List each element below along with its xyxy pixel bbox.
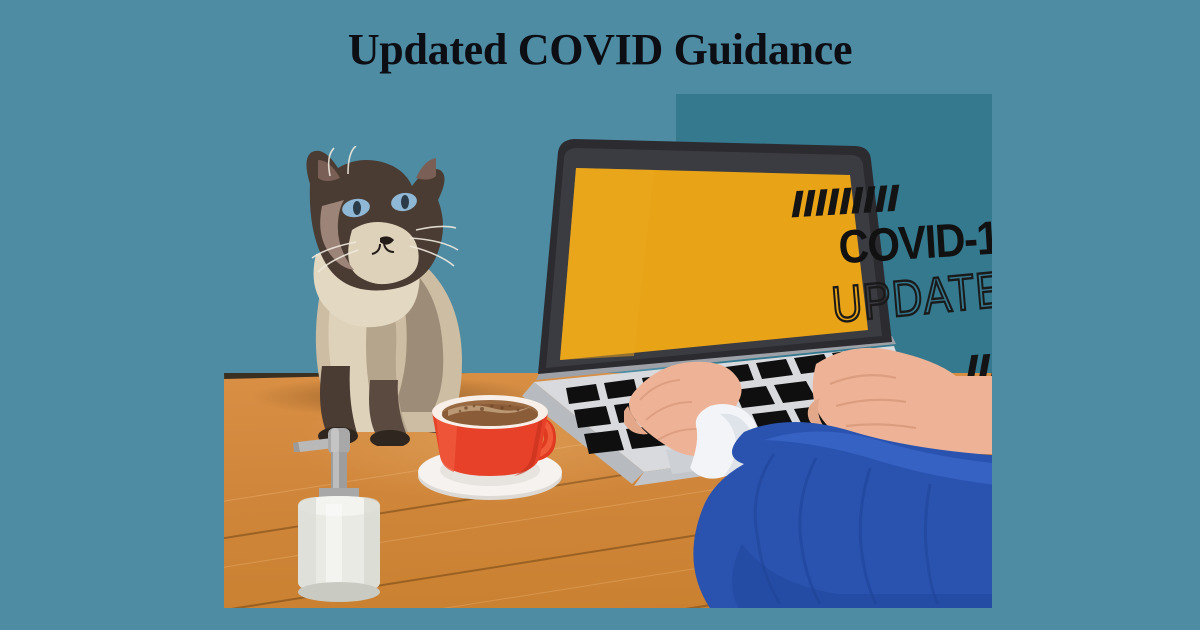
hazard-bar [816, 189, 828, 216]
hand-sanitizer-pump-bottle[interactable] [284, 414, 389, 604]
hazard-bar [876, 185, 888, 212]
hazard-bar [804, 190, 816, 217]
hazard-bar [828, 188, 840, 215]
person-hands-typing [624, 344, 992, 608]
hazard-bar [852, 187, 864, 214]
hazard-bar [840, 188, 852, 215]
coffee-cup-on-saucer[interactable] [414, 384, 574, 504]
hazard-bar [792, 191, 804, 218]
illustration-panel: COVID-19 UPDATES [224, 94, 992, 608]
page-title: Updated COVID Guidance [0, 24, 1200, 76]
hazard-bar [864, 186, 876, 213]
